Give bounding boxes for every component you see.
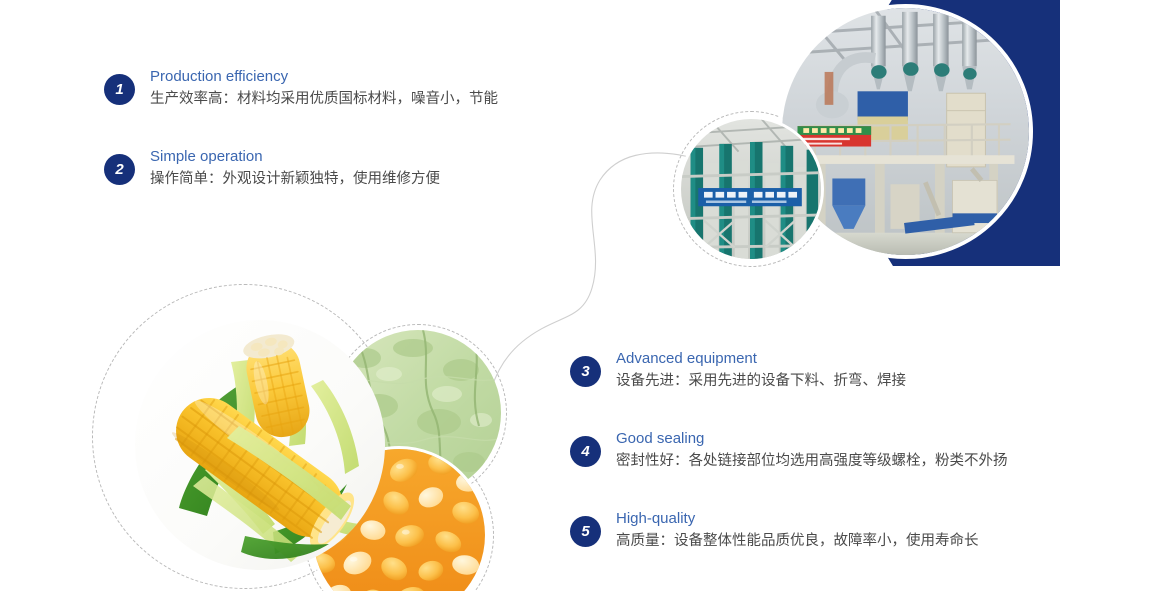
feature-title-1: Production efficiency (150, 66, 574, 87)
green-milling-machinery-photo (678, 116, 824, 262)
feature-title-4: Good sealing (616, 428, 1090, 449)
feature-title-2: Simple operation (150, 146, 574, 167)
feature-badge-2: 2 (104, 154, 135, 185)
feature-list-left: 1 Production efficiency 生产效率高：材料均采用优质国标材… (104, 66, 574, 190)
feature-desc-2: 操作简单：外观设计新颖独特，使用维修方便 (150, 168, 574, 190)
feature-item-5: 5 High-quality 高质量：设备整体性能品质优良，故障率小，使用寿命长 (570, 508, 1090, 552)
feature-badge-5: 5 (570, 516, 601, 547)
feature-list-right: 3 Advanced equipment 设备先进：采用先进的设备下料、折弯、焊… (570, 348, 1090, 552)
feature-desc-5: 高质量：设备整体性能品质优良，故障率小，使用寿命长 (616, 530, 1090, 552)
feature-desc-1: 生产效率高：材料均采用优质国标材料，噪音小，节能 (150, 88, 574, 110)
feature-item-3: 3 Advanced equipment 设备先进：采用先进的设备下料、折弯、焊… (570, 348, 1090, 392)
feature-item-4: 4 Good sealing 密封性好：各处链接部位均选用高强度等级螺栓，粉类不… (570, 428, 1090, 472)
feature-item-2: 2 Simple operation 操作简单：外观设计新颖独特，使用维修方便 (104, 146, 574, 190)
feature-title-5: High-quality (616, 508, 1090, 529)
feature-title-3: Advanced equipment (616, 348, 1090, 369)
feature-badge-1: 1 (104, 74, 135, 105)
feature-desc-4: 密封性好：各处链接部位均选用高强度等级螺栓，粉类不外扬 (616, 450, 1090, 472)
feature-desc-3: 设备先进：采用先进的设备下料、折弯、焊接 (616, 370, 1090, 392)
feature-badge-3: 3 (570, 356, 601, 387)
feature-badge-4: 4 (570, 436, 601, 467)
corn-photo-group (92, 282, 512, 591)
feature-item-1: 1 Production efficiency 生产效率高：材料均采用优质国标材… (104, 66, 574, 110)
hexagon-photo-group (660, 0, 1154, 270)
feature-infographic: 1 Production efficiency 生产效率高：材料均采用优质国标材… (0, 0, 1154, 591)
fresh-corn-cob-photo (135, 320, 385, 570)
